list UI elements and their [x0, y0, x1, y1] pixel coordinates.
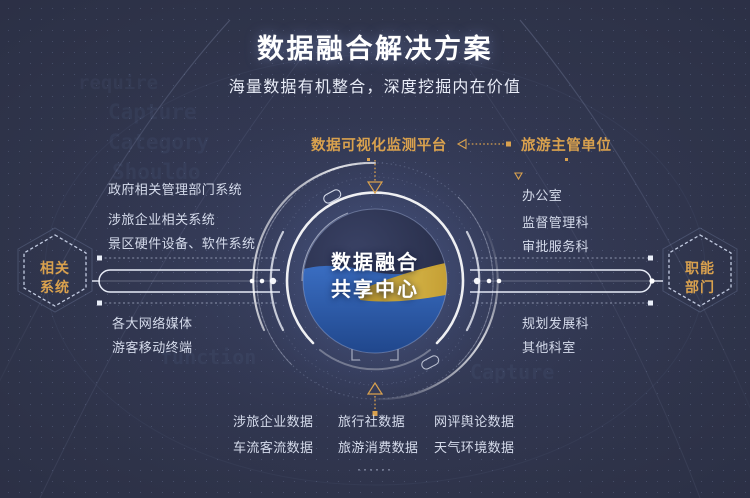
bottom-data-cell[interactable]: 网评舆论数据: [434, 411, 514, 430]
bottom-data-cell[interactable]: 旅行社数据: [338, 411, 405, 430]
bottom-data-cell[interactable]: 车流客流数据: [233, 437, 313, 456]
bottom-data-cell[interactable]: 天气环境数据: [434, 437, 514, 456]
infographic-canvas: Capture Category Shouldo require functio…: [0, 0, 750, 498]
center-core-label: 数据融合 共享中心: [280, 250, 470, 304]
bottom-data-more: ······: [357, 462, 393, 476]
bottom-data-cell[interactable]: 涉旅企业数据: [233, 411, 313, 430]
bottom-data-cell[interactable]: 旅游消费数据: [338, 437, 418, 456]
